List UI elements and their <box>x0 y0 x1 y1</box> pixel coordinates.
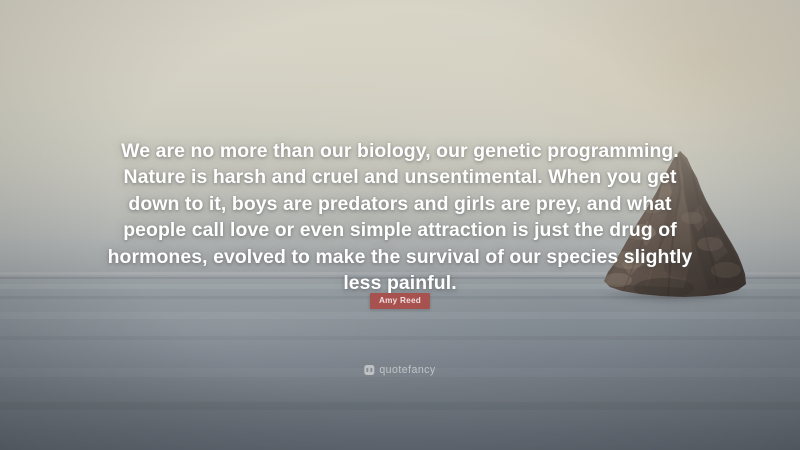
watermark[interactable]: quotefancy <box>364 364 435 376</box>
quote-poster: We are no more than our biology, our gen… <box>0 0 800 450</box>
author-badge[interactable]: Amy Reed <box>370 293 430 309</box>
watermark-brand-label: quotefancy <box>379 364 435 376</box>
quote-text: We are no more than our biology, our gen… <box>100 138 700 296</box>
quotefancy-logo-icon <box>364 365 374 375</box>
